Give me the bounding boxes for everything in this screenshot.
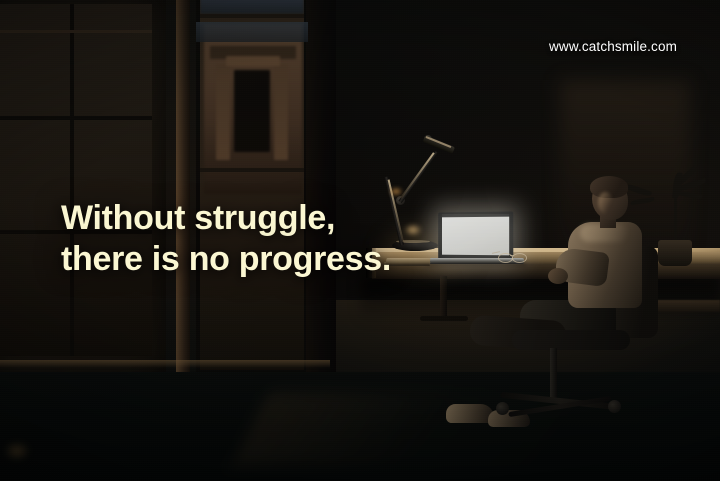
- quote-line-1: Without struggle,: [61, 198, 461, 239]
- plant-leaf: [630, 197, 654, 205]
- quote-line-2: there is no progress.: [61, 239, 461, 280]
- person-hand: [548, 268, 568, 284]
- chair-seat: [512, 330, 630, 350]
- quote-block: Without struggle, there is no progress.: [61, 198, 461, 281]
- chair-caster: [608, 400, 621, 413]
- plant-pot: [658, 240, 692, 266]
- watermark: www.catchsmile.com: [549, 39, 677, 54]
- person-face-highlight: [598, 192, 613, 214]
- person-shoe-left: [446, 404, 494, 423]
- plant-leaf: [678, 190, 703, 200]
- plant-stem: [674, 192, 677, 242]
- chair-post: [550, 348, 557, 400]
- chair-caster: [496, 402, 509, 415]
- quote-image: www.catchsmile.com Without struggle, the…: [0, 0, 720, 481]
